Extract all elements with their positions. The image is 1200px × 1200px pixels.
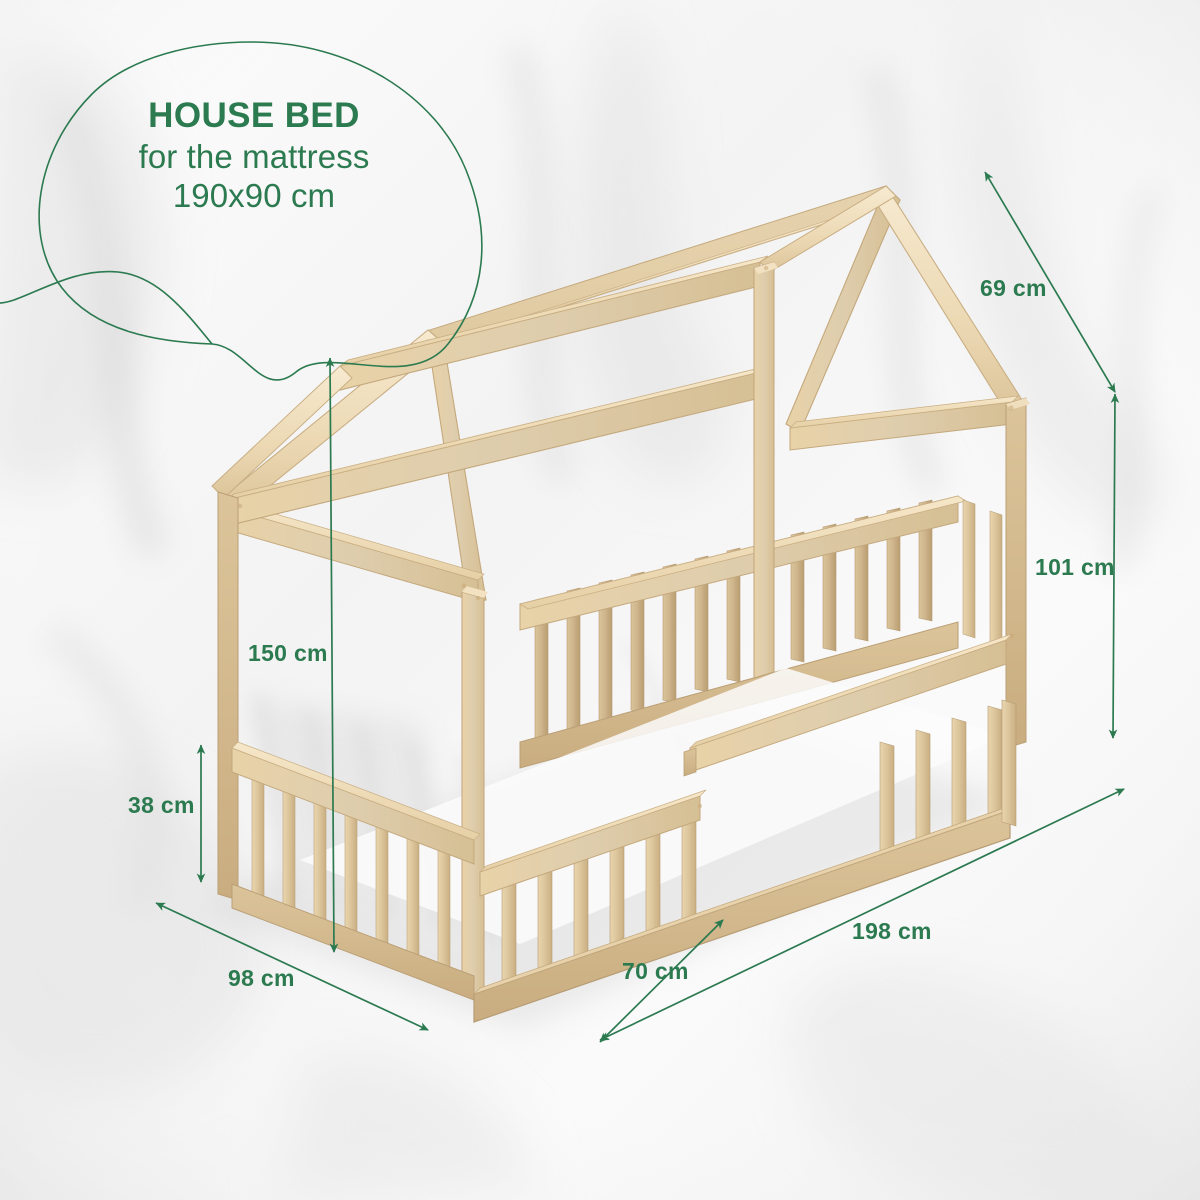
- pillar-right-far: [1006, 398, 1026, 748]
- callout-bubble-outline: [39, 42, 482, 380]
- callout-bubble-tail: [0, 272, 212, 344]
- left-end-rail-slats: [232, 742, 480, 1000]
- dimension-label-width-outer: 98 cm: [228, 965, 295, 992]
- roof-structure: [212, 186, 1022, 604]
- pillar-left-near: [462, 592, 484, 1000]
- dimension-label-rail-height: 38 cm: [128, 792, 195, 819]
- infographic-canvas: HOUSE BED for the mattress 190x90 cm 150…: [0, 0, 1200, 1200]
- pillar-left-far: [218, 492, 238, 900]
- dimension-label-wall-height: 101 cm: [1035, 554, 1115, 581]
- dimension-label-length-outer: 198 cm: [852, 918, 932, 945]
- callout-bubble: [0, 42, 482, 380]
- gable-right-collar: [790, 402, 1012, 450]
- house-bed-frame: [212, 186, 1030, 1022]
- scene-layer: [0, 0, 1200, 1200]
- dimension-label-gap-opening: 70 cm: [622, 958, 689, 985]
- dimension-label-height-total: 150 cm: [248, 640, 328, 667]
- right-end-rail-slats: [963, 500, 1002, 647]
- pillar-right-near: [754, 262, 774, 678]
- dimension-label-roof-slope: 69 cm: [980, 275, 1047, 302]
- right-corner-post: [1002, 700, 1016, 826]
- near-ridge-beam: [340, 262, 760, 390]
- gable-left-collar: [228, 508, 478, 602]
